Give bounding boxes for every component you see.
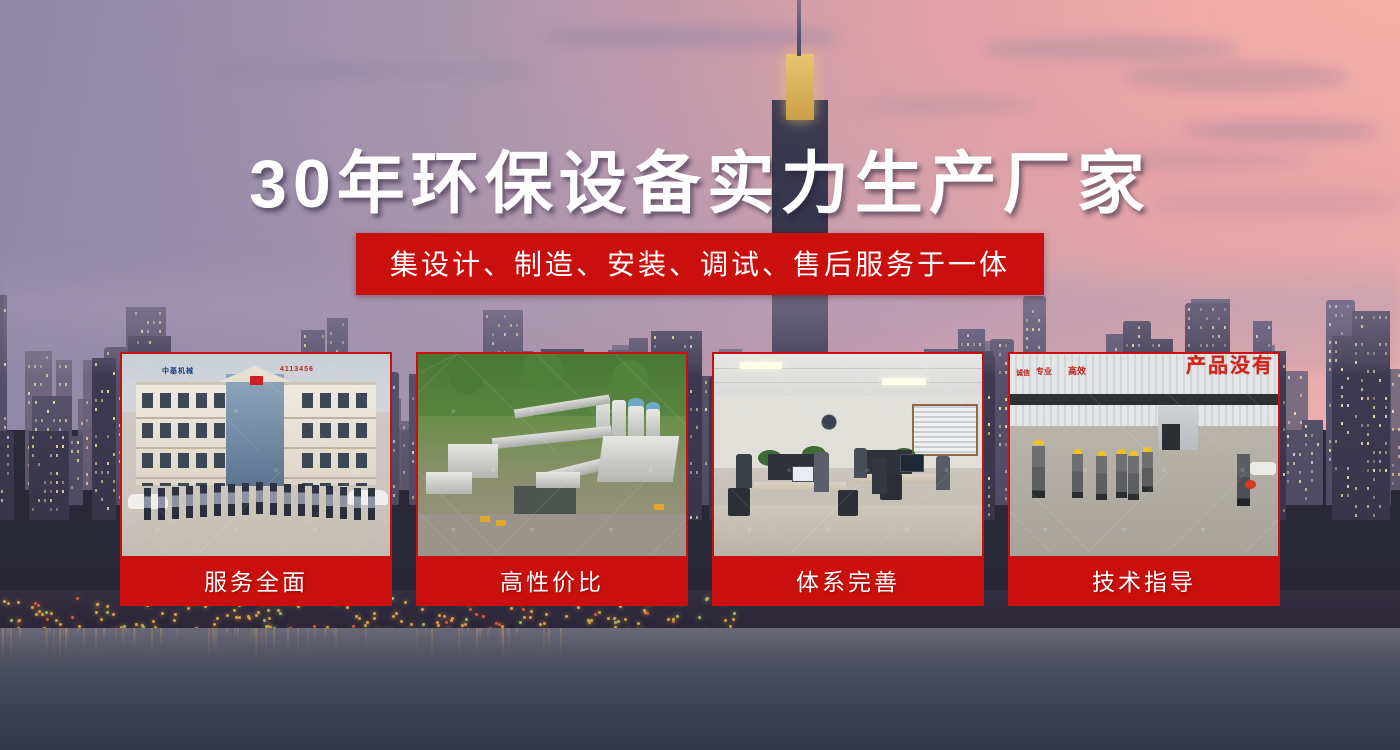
staff-member <box>214 484 221 516</box>
window <box>160 393 171 408</box>
person <box>854 448 867 478</box>
person <box>936 456 950 490</box>
window <box>142 393 153 408</box>
flag <box>250 376 263 385</box>
window <box>214 393 225 408</box>
staff-member <box>270 483 277 515</box>
staff-member <box>186 486 193 518</box>
staff-member <box>158 488 165 520</box>
window <box>320 423 331 438</box>
chair <box>728 488 750 516</box>
hard-hat-icon <box>1117 449 1126 454</box>
warehouse <box>597 436 679 482</box>
window <box>160 423 171 438</box>
window <box>302 453 313 468</box>
staff-member <box>284 484 291 516</box>
feature-card[interactable]: 体系完善 <box>712 352 984 606</box>
ceiling-light <box>740 362 782 369</box>
staff-member <box>368 488 375 520</box>
wall-slogan-2: 专业 <box>1036 366 1052 377</box>
window <box>356 453 367 468</box>
excavator <box>654 504 664 510</box>
card-caption: 高性价比 <box>418 556 686 604</box>
conveyor <box>492 426 612 449</box>
feature-card[interactable]: 产品没有 诚信 专业 高效 <box>1008 352 1280 606</box>
window <box>320 453 331 468</box>
feature-card[interactable]: 高性价比 <box>416 352 688 606</box>
window <box>338 423 349 438</box>
hard-hat-icon <box>1143 447 1152 452</box>
plant-yard <box>418 514 686 557</box>
staff-member <box>312 485 319 517</box>
feature-card[interactable]: 中基机械 4113456 服务全面 <box>120 352 392 606</box>
staff-member <box>172 487 179 519</box>
wall-decal <box>814 406 844 432</box>
window-blinds <box>912 404 978 456</box>
staff-member <box>326 486 333 518</box>
person <box>814 452 829 492</box>
window <box>338 453 349 468</box>
photo-factory-yard: 产品没有 诚信 专业 高效 <box>1010 354 1278 557</box>
warehouse <box>426 472 472 494</box>
ceiling-light <box>882 378 926 385</box>
photo-office-interior <box>714 354 982 557</box>
window <box>196 423 207 438</box>
staff-member <box>354 488 361 520</box>
staff-member <box>256 482 263 514</box>
person <box>736 454 752 488</box>
window <box>302 393 313 408</box>
building-phone-text: 4113456 <box>280 366 314 373</box>
worker <box>1128 456 1139 500</box>
staff-member <box>228 484 235 516</box>
subtitle-banner: 集设计、制造、安装、调试、售后服务于一体 <box>356 233 1044 295</box>
feature-card-list: 中基机械 4113456 服务全面 <box>120 352 1280 606</box>
window <box>214 453 225 468</box>
worker <box>1072 454 1083 498</box>
window <box>302 423 313 438</box>
desk <box>754 482 846 492</box>
window <box>160 453 171 468</box>
staff-member <box>200 485 207 517</box>
chair <box>838 490 858 516</box>
card-caption: 技术指导 <box>1010 556 1278 604</box>
factory-eave <box>1010 394 1278 405</box>
laptop <box>792 466 814 482</box>
card-caption: 体系完善 <box>714 556 982 604</box>
staff-member <box>242 483 249 515</box>
silo <box>612 400 626 436</box>
window <box>196 393 207 408</box>
hard-hat-icon <box>1033 440 1044 445</box>
warehouse <box>536 472 580 488</box>
window <box>356 423 367 438</box>
window <box>178 393 189 408</box>
staff-member <box>340 487 347 519</box>
window <box>320 393 331 408</box>
building-sign-text: 中基机械 <box>162 366 194 376</box>
window <box>356 393 367 408</box>
card-photo <box>418 354 686 557</box>
wall-slogan-3: 高效 <box>1068 364 1086 377</box>
window <box>178 423 189 438</box>
hard-hat-icon <box>1129 451 1138 456</box>
staff-member <box>298 484 305 516</box>
wall-slogan-large: 产品没有 <box>1186 356 1274 376</box>
card-photo: 产品没有 诚信 专业 高效 <box>1010 354 1278 557</box>
worker <box>1116 454 1127 498</box>
car <box>1250 462 1276 475</box>
excavator <box>496 520 506 526</box>
red-helmet-icon <box>1245 480 1256 489</box>
silo <box>628 406 644 438</box>
hard-hat-icon <box>1097 451 1106 456</box>
monitor <box>900 454 924 472</box>
worker <box>1096 456 1107 500</box>
card-caption: 服务全面 <box>122 556 390 604</box>
photo-aerial-plant <box>418 354 686 557</box>
person <box>872 458 887 494</box>
card-photo <box>714 354 982 557</box>
window <box>178 453 189 468</box>
silo <box>646 409 660 437</box>
building-atrium <box>226 374 284 486</box>
staff-member <box>144 488 151 520</box>
window <box>338 393 349 408</box>
worker <box>1032 446 1045 498</box>
wall-slogan-1: 诚信 <box>1016 368 1030 378</box>
window <box>142 423 153 438</box>
page-title: 30年环保设备实力生产厂家 <box>0 128 1400 227</box>
window <box>142 453 153 468</box>
worker <box>1142 452 1153 492</box>
window <box>214 423 225 438</box>
window <box>196 453 207 468</box>
banner-stage: 30年环保设备实力生产厂家 集设计、制造、安装、调试、售后服务于一体 中基机械 … <box>0 0 1400 750</box>
photo-office-building: 中基机械 4113456 <box>122 354 390 557</box>
ceiling <box>714 354 982 396</box>
hard-hat-icon <box>1073 449 1082 454</box>
card-photo: 中基机械 4113456 <box>122 354 390 557</box>
excavator <box>480 516 490 522</box>
